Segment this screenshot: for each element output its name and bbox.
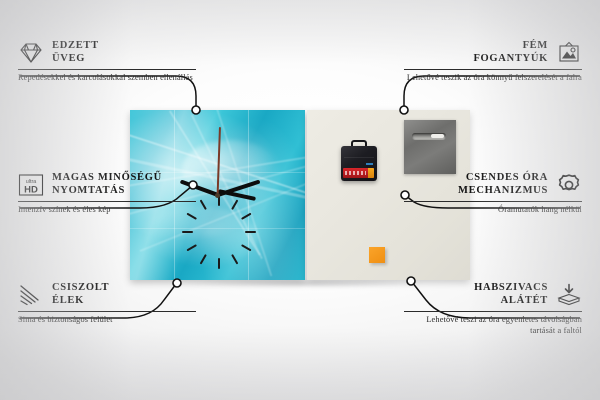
hanger-slot bbox=[412, 133, 446, 140]
callout-subtitle: Lehetővé teszi az óra egyenletes távolsá… bbox=[404, 315, 582, 336]
callout-rule bbox=[404, 311, 582, 312]
callout-title-line2: ÜVEG bbox=[52, 53, 85, 64]
polished-edge-icon bbox=[18, 283, 44, 307]
callout-title-line1: FÉM bbox=[523, 40, 548, 51]
callout-subtitle: Óramutatók hang nélkül bbox=[404, 205, 582, 216]
callout-metal-handles[interactable]: FÉM FOGANTYÚK Lehetővé teszik az óra kön… bbox=[404, 40, 582, 84]
callout-title-line1: HABSZIVACS bbox=[474, 282, 548, 293]
battery bbox=[343, 168, 374, 178]
metal-hanger-plate bbox=[404, 120, 456, 174]
callout-title-line2: ÉLEK bbox=[52, 295, 84, 306]
svg-text:HD: HD bbox=[24, 184, 38, 195]
callout-foam-pad[interactable]: HABSZIVACS ALÁTÉT Lehetővé teszi az óra … bbox=[404, 282, 582, 336]
foam-pad-icon bbox=[556, 283, 582, 307]
ultra-hd-icon: ultra HD bbox=[18, 173, 44, 197]
callout-title-line2: FOGANTYÚK bbox=[473, 53, 548, 64]
callout-title-line2: ALÁTÉT bbox=[501, 295, 548, 306]
infographic-canvas: EDZETT ÜVEG Repedésekkel és karcolásokka… bbox=[0, 0, 600, 400]
callout-rule bbox=[404, 69, 582, 70]
callout-title-line1: MAGAS MINŐSÉGŰ bbox=[52, 172, 162, 183]
callout-tempered-glass[interactable]: EDZETT ÜVEG Repedésekkel és karcolásokka… bbox=[18, 40, 196, 84]
callout-subtitle: Lehetővé teszik az óra könnyű felszerelé… bbox=[404, 73, 582, 84]
callout-rule bbox=[404, 201, 582, 202]
gear-icon bbox=[556, 173, 582, 197]
picture-hanger-icon bbox=[556, 41, 582, 65]
callout-title-line2: MECHANIZMUS bbox=[458, 185, 548, 196]
callout-title-line1: CSISZOLT bbox=[52, 282, 109, 293]
callout-subtitle: Sima és biztonságos felület bbox=[18, 315, 196, 326]
diamond-icon bbox=[18, 41, 44, 65]
callout-rule bbox=[18, 69, 196, 70]
callout-title-line1: CSENDES ÓRA bbox=[466, 172, 548, 183]
callout-rule bbox=[18, 311, 196, 312]
callout-title-line2: NYOMTATÁS bbox=[52, 185, 125, 196]
callout-rule bbox=[18, 201, 196, 202]
mechanism-body bbox=[341, 146, 377, 181]
hand-cap bbox=[215, 193, 220, 198]
callout-silent-mechanism[interactable]: CSENDES ÓRA MECHANIZMUS Óramutatók hang … bbox=[404, 172, 582, 216]
clock-mechanism bbox=[341, 141, 377, 181]
foam-pad bbox=[369, 247, 385, 263]
callout-subtitle: Repedésekkel és karcolásokkal szemben el… bbox=[18, 73, 196, 84]
callout-subtitle: Intenzív színek és éles kép bbox=[18, 205, 196, 216]
callout-title-line1: EDZETT bbox=[52, 40, 99, 51]
callout-polished-edges[interactable]: CSISZOLT ÉLEK Sima és biztonságos felüle… bbox=[18, 282, 196, 326]
callout-high-quality-print[interactable]: ultra HD MAGAS MINŐSÉGŰ NYOMTATÁS Intenz… bbox=[18, 172, 196, 216]
